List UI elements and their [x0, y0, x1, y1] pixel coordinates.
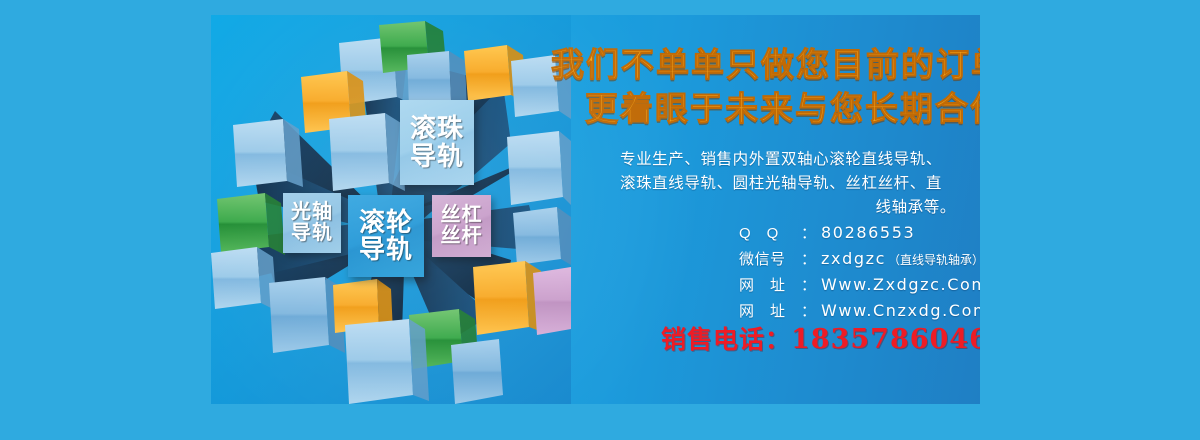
contact-separator: ： [801, 300, 821, 321]
sales-phone-label: 销售电话： [661, 320, 791, 356]
contact-value-website-2[interactable]: Www.Cnzxdg.Com [821, 301, 980, 320]
contact-label-wechat: 微信号 [739, 248, 801, 269]
sales-phone-number[interactable]: 18357860469 [791, 324, 980, 355]
contact-value-wechat[interactable]: zxdgzc [821, 249, 886, 268]
contact-label-website-1: 网 址 [739, 274, 801, 295]
cube-label-line1: 丝杠 [441, 205, 483, 226]
cube-label-line1: 光轴 [291, 202, 333, 223]
headline-line-1: 我们不单单只做您目前的订单 [551, 43, 980, 87]
exploding-cube-artwork: 滚珠 导轨 光轴 导轨 滚轮 导轨 丝杠 丝杆 [211, 15, 571, 404]
contact-row-wechat: 微信号 ： zxdgzc （直线导轨轴承） [739, 248, 980, 269]
contact-label-qq: Q Q [739, 222, 801, 243]
page-root: 滚珠 导轨 光轴 导轨 滚轮 导轨 丝杠 丝杆 我们不单单只做您目前的订单 更着… [0, 0, 1200, 440]
contact-value-website-1[interactable]: Www.Zxdgzc.Com [821, 275, 980, 294]
product-cube-ball-guide: 滚珠 导轨 [400, 100, 474, 185]
contact-separator: ： [801, 222, 821, 243]
description-line-2: 滚珠直线导轨、圆柱光轴导轨、丝杠丝杆、直 [606, 172, 956, 196]
product-cube-lead-screw: 丝杠 丝杆 [432, 195, 491, 257]
cube-label-line2: 导轨 [291, 223, 333, 244]
product-cube-shaft-guide: 光轴 导轨 [283, 193, 341, 253]
sales-phone[interactable]: 销售电话： 18357860469 [661, 320, 980, 356]
contact-value-qq[interactable]: 80286553 [821, 223, 915, 242]
contact-list: Q Q ： 80286553 微信号 ： zxdgzc （直线导轨轴承） 网 址… [739, 222, 980, 326]
cube-label-line1: 滚轮 [359, 209, 413, 236]
contact-row-website-1: 网 址 ： Www.Zxdgzc.Com [739, 274, 980, 295]
cube-label-line2: 丝杆 [441, 226, 483, 247]
description-text: 专业生产、销售内外置双轴心滚轮直线导轨、 滚珠直线导轨、圆柱光轴导轨、丝杠丝杆、… [606, 148, 956, 220]
cube-label-line2: 导轨 [359, 236, 413, 263]
description-line-3: 线轴承等。 [606, 196, 956, 220]
contact-row-qq: Q Q ： 80286553 [739, 222, 980, 243]
contact-separator: ： [801, 248, 821, 269]
contact-label-website-2: 网 址 [739, 300, 801, 321]
contact-separator: ： [801, 274, 821, 295]
headline: 我们不单单只做您目前的订单 更着眼于未来与您长期合作 [551, 43, 980, 131]
cube-label-line2: 导轨 [410, 143, 464, 170]
product-cube-roller-guide: 滚轮 导轨 [348, 195, 424, 277]
description-line-1: 专业生产、销售内外置双轴心滚轮直线导轨、 [606, 148, 956, 172]
promo-banner: 滚珠 导轨 光轴 导轨 滚轮 导轨 丝杠 丝杆 我们不单单只做您目前的订单 更着… [211, 15, 980, 404]
contact-row-website-2: 网 址 ： Www.Cnzxdg.Com [739, 300, 980, 321]
cube-label-line1: 滚珠 [410, 115, 464, 142]
headline-line-2: 更着眼于未来与您长期合作 [551, 87, 980, 131]
contact-note-wechat: （直线导轨轴承） [886, 251, 980, 268]
